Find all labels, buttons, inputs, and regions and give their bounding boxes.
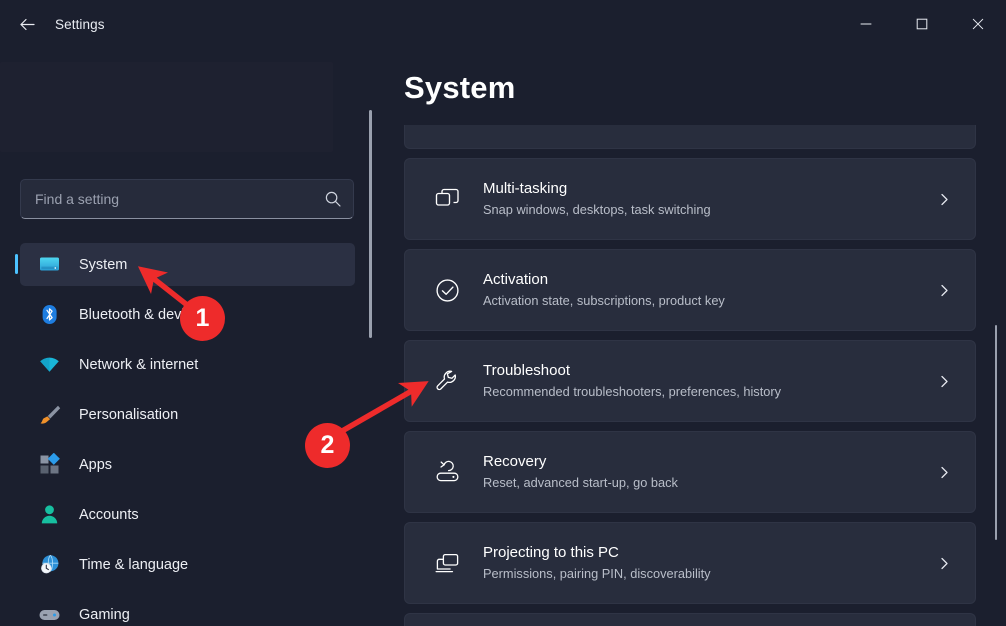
search-box[interactable] [20, 179, 354, 219]
globe-clock-icon [37, 553, 61, 577]
search-icon[interactable] [323, 189, 343, 209]
gamepad-icon [37, 603, 61, 626]
check-circle-icon [432, 275, 462, 305]
annotation-badge-2: 2 [305, 423, 350, 468]
row-title: Activation [483, 270, 929, 290]
close-icon [972, 18, 984, 30]
sidebar-item-label: Time & language [79, 557, 188, 573]
sidebar-item-network-internet[interactable]: Network & internet [20, 343, 355, 386]
paintbrush-icon [37, 403, 61, 427]
chevron-right-icon[interactable] [929, 275, 959, 305]
row-title: Multi-tasking [483, 179, 929, 199]
main-scrollbar-thumb[interactable] [995, 325, 998, 540]
sidebar-item-label: Gaming [79, 607, 130, 623]
row-text: Projecting to this PC Permissions, pairi… [483, 543, 929, 583]
row-text: Recovery Reset, advanced start-up, go ba… [483, 452, 929, 492]
sidebar-item-accounts[interactable]: Accounts [20, 493, 355, 536]
wrench-icon [432, 366, 462, 396]
apps-icon [37, 453, 61, 477]
row-text: Troubleshoot Recommended troubleshooters… [483, 361, 929, 401]
sidebar-item-label: Network & internet [79, 357, 198, 373]
settings-row-partial-bottom[interactable] [404, 613, 976, 626]
settings-window: Settings [0, 0, 1006, 626]
annotation-badge-1: 1 [180, 296, 225, 341]
sidebar-item-label: System [79, 257, 127, 273]
settings-row-activation[interactable]: Activation Activation state, subscriptio… [404, 249, 976, 331]
maximize-button[interactable] [894, 0, 950, 48]
main-content: System Multi-tasking Snap windows, deskt… [382, 48, 1006, 626]
recovery-drive-icon [432, 457, 462, 487]
sidebar-item-system[interactable]: System [20, 243, 355, 286]
row-subtitle: Activation state, subscriptions, product… [483, 291, 929, 310]
window-controls [838, 0, 1006, 48]
sidebar-item-personalisation[interactable]: Personalisation [20, 393, 355, 436]
window-title: Settings [55, 17, 105, 32]
sidebar-item-label: Apps [79, 457, 112, 473]
page-title: System [404, 70, 516, 106]
back-arrow-icon [18, 15, 37, 34]
settings-card-list: Multi-tasking Snap windows, desktops, ta… [404, 125, 976, 626]
chevron-right-icon[interactable] [929, 184, 959, 214]
minimize-icon [860, 18, 872, 30]
search-field-wrapper [20, 179, 354, 219]
sidebar-item-gaming[interactable]: Gaming [20, 593, 355, 626]
monitor-icon [37, 253, 61, 277]
row-text: Activation Activation state, subscriptio… [483, 270, 929, 310]
settings-row-projecting-to-this-pc[interactable]: Projecting to this PC Permissions, pairi… [404, 522, 976, 604]
row-subtitle: Recommended troubleshooters, preferences… [483, 382, 929, 401]
bluetooth-icon [37, 303, 61, 327]
row-subtitle: Reset, advanced start-up, go back [483, 473, 929, 492]
close-button[interactable] [950, 0, 1006, 48]
settings-row-partial-top[interactable] [404, 125, 976, 149]
search-input[interactable] [35, 191, 323, 207]
sidebar-item-time-language[interactable]: Time & language [20, 543, 355, 586]
settings-row-troubleshoot[interactable]: Troubleshoot Recommended troubleshooters… [404, 340, 976, 422]
sidebar-scrollbar-thumb[interactable] [369, 110, 372, 338]
person-icon [37, 503, 61, 527]
chevron-right-icon[interactable] [929, 457, 959, 487]
chevron-right-icon[interactable] [929, 366, 959, 396]
row-title: Troubleshoot [483, 361, 929, 381]
settings-row-multitasking[interactable]: Multi-tasking Snap windows, desktops, ta… [404, 158, 976, 240]
settings-row-recovery[interactable]: Recovery Reset, advanced start-up, go ba… [404, 431, 976, 513]
selection-indicator [15, 254, 18, 274]
sidebar-item-label: Personalisation [79, 407, 178, 423]
projecting-icon [432, 548, 462, 578]
back-button[interactable] [9, 8, 45, 40]
title-bar: Settings [0, 0, 1006, 48]
row-title: Projecting to this PC [483, 543, 929, 563]
multitask-icon [432, 184, 462, 214]
minimize-button[interactable] [838, 0, 894, 48]
row-subtitle: Permissions, pairing PIN, discoverabilit… [483, 564, 929, 583]
row-title: Recovery [483, 452, 929, 472]
chevron-right-icon[interactable] [929, 548, 959, 578]
sidebar-item-label: Accounts [79, 507, 139, 523]
row-subtitle: Snap windows, desktops, task switching [483, 200, 929, 219]
account-header-redacted [0, 62, 333, 152]
wifi-icon [37, 353, 61, 377]
maximize-icon [916, 18, 928, 30]
row-text: Multi-tasking Snap windows, desktops, ta… [483, 179, 929, 219]
